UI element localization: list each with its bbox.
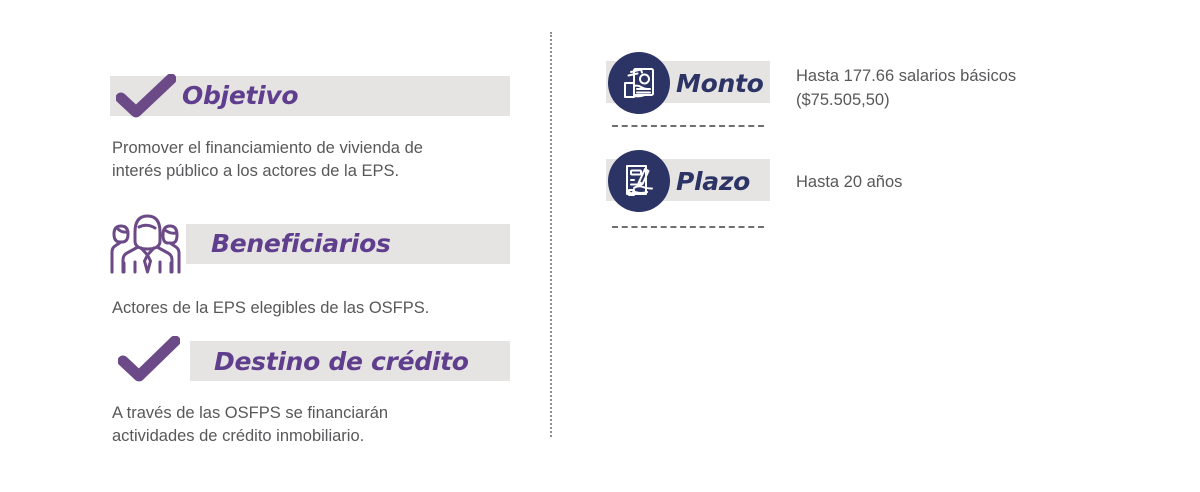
document-sign-icon xyxy=(608,150,670,212)
check-icon xyxy=(118,336,180,387)
beneficiarios-title: Beneficiarios xyxy=(211,229,391,258)
plazo-value: Hasta 20 años xyxy=(796,170,1096,194)
plazo-separator xyxy=(612,226,764,228)
monto-label: Monto xyxy=(676,69,763,98)
plazo-label: Plazo xyxy=(676,167,750,196)
monto-separator xyxy=(612,125,764,127)
people-icon xyxy=(108,212,186,279)
vertical-divider xyxy=(550,32,552,437)
monto-value: Hasta 177.66 salarios básicos ($75.505,5… xyxy=(796,64,1096,112)
money-hand-icon xyxy=(608,52,670,114)
infographic-canvas: Objetivo Promover el financiamiento de v… xyxy=(0,0,1200,492)
destino-title: Destino de crédito xyxy=(214,347,469,376)
beneficiarios-body: Actores de la EPS elegibles de las OSFPS… xyxy=(112,297,512,320)
destino-body: A través de las OSFPS se financiarán act… xyxy=(112,402,512,448)
objetivo-body: Promover el financiamiento de vivienda d… xyxy=(112,137,512,183)
check-icon xyxy=(116,74,176,123)
objetivo-title: Objetivo xyxy=(182,81,298,110)
